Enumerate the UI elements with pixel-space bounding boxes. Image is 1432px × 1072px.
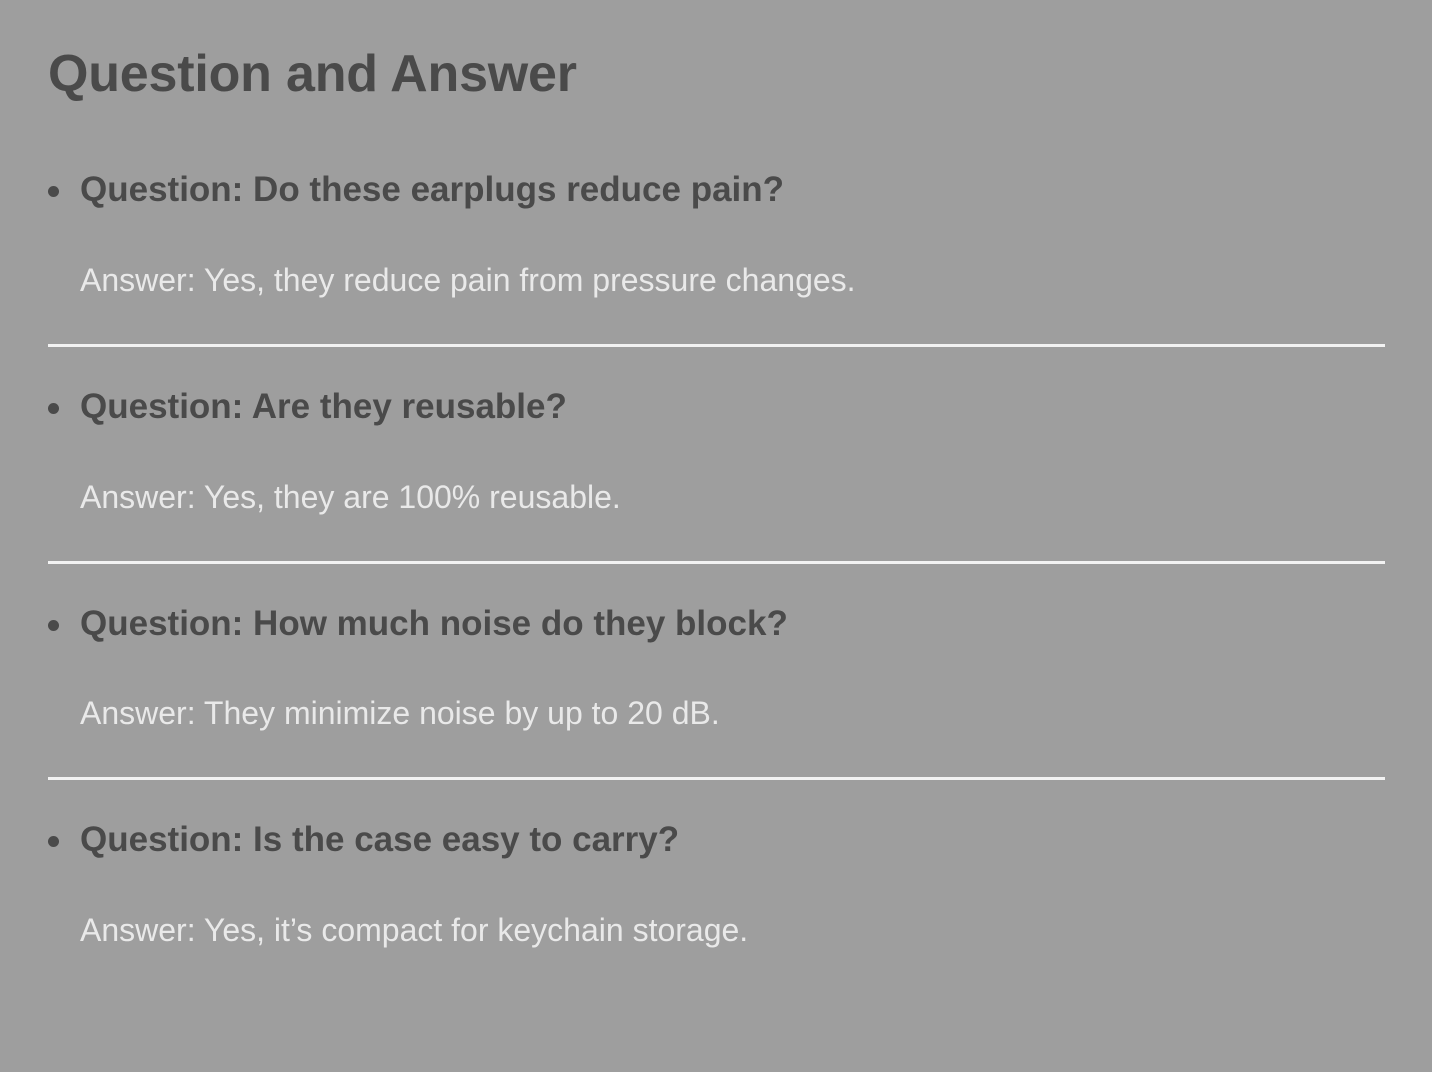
- bullet-icon: [48, 620, 59, 631]
- qa-question-text: Question: How much noise do they block?: [80, 604, 788, 643]
- qa-question: Question: How much noise do they block?: [0, 602, 1432, 646]
- qa-list: Question: Do these earplugs reduce pain?…: [0, 168, 1432, 950]
- qa-answer: Answer: Yes, it’s compact for keychain s…: [0, 910, 1432, 950]
- bullet-icon: [48, 836, 59, 847]
- qa-item: Question: How much noise do they block? …: [0, 602, 1432, 781]
- qa-divider: [48, 561, 1385, 564]
- qa-answer: Answer: They minimize noise by up to 20 …: [0, 693, 1432, 733]
- bullet-icon: [48, 186, 59, 197]
- qa-answer: Answer: Yes, they reduce pain from press…: [0, 260, 1432, 300]
- qa-divider: [48, 777, 1385, 780]
- qa-item: Question: Are they reusable? Answer: Yes…: [0, 385, 1432, 564]
- page-title: Question and Answer: [48, 46, 577, 103]
- qa-item: Question: Is the case easy to carry? Ans…: [0, 818, 1432, 950]
- qa-page: Question and Answer Question: Do these e…: [0, 0, 1432, 1072]
- qa-divider: [48, 344, 1385, 347]
- qa-question: Question: Is the case easy to carry?: [0, 818, 1432, 862]
- qa-question: Question: Are they reusable?: [0, 385, 1432, 429]
- qa-question-text: Question: Do these earplugs reduce pain?: [80, 170, 784, 209]
- bullet-icon: [48, 403, 59, 414]
- qa-question-text: Question: Is the case easy to carry?: [80, 820, 679, 859]
- qa-answer: Answer: Yes, they are 100% reusable.: [0, 477, 1432, 517]
- qa-question: Question: Do these earplugs reduce pain?: [0, 168, 1432, 212]
- qa-item: Question: Do these earplugs reduce pain?…: [0, 168, 1432, 347]
- qa-question-text: Question: Are they reusable?: [80, 387, 567, 426]
